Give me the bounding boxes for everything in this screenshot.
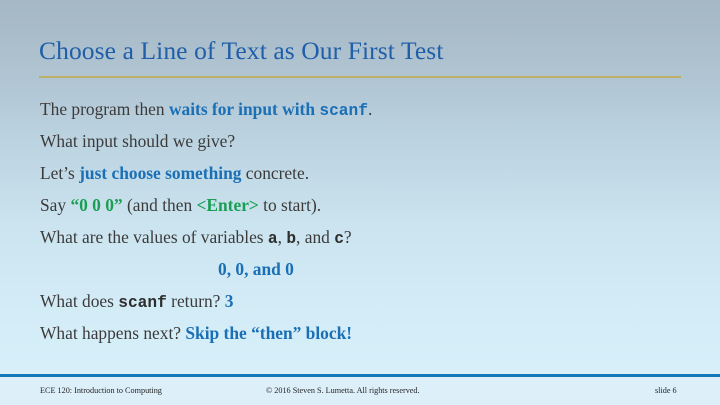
line-say-zeros-segment-0: Say bbox=[40, 195, 70, 215]
slide-footer: ECE 120: Introduction to Computing © 201… bbox=[0, 377, 720, 405]
line-variable-values-segment-0: What are the values of variables bbox=[40, 227, 268, 247]
line-variable-values-segment-3: b bbox=[286, 230, 296, 248]
line-scanf-return-segment-1: scanf bbox=[118, 294, 167, 312]
line-variable-values-segment-1: a bbox=[268, 230, 278, 248]
line-variable-values-segment-6: ? bbox=[344, 227, 352, 247]
footer-course-label: ECE 120: Introduction to Computing bbox=[40, 386, 162, 396]
line-say-zeros: Say “0 0 0” (and then <Enter> to start). bbox=[40, 189, 700, 221]
line-what-next: What happens next? Skip the “then” block… bbox=[40, 317, 700, 349]
line-scanf-wait: The program then waits for input with sc… bbox=[40, 93, 700, 125]
line-scanf-wait-segment-2: scanf bbox=[319, 102, 368, 120]
line-variable-values: What are the values of variables a, b, a… bbox=[40, 221, 700, 253]
line-answer-zeros: 0, 0, and 0 bbox=[40, 253, 700, 285]
line-variable-values-segment-5: c bbox=[334, 230, 344, 248]
slide-canvas: Choose a Line of Text as Our First Test … bbox=[0, 0, 720, 405]
line-choose-something: Let’s just choose something concrete. bbox=[40, 157, 700, 189]
line-choose-something-segment-0: Let’s bbox=[40, 163, 79, 183]
line-choose-something-segment-2: concrete. bbox=[241, 163, 309, 183]
line-say-zeros-segment-1: “0 0 0” bbox=[70, 195, 122, 215]
footer-copyright-label: © 2016 Steven S. Lumetta. All rights res… bbox=[266, 386, 420, 396]
line-what-next-segment-0: What happens next? bbox=[40, 323, 185, 343]
line-scanf-wait-segment-1: waits for input with bbox=[169, 99, 319, 119]
line-scanf-return-segment-3: 3 bbox=[225, 291, 234, 311]
line-say-zeros-segment-2: (and then bbox=[123, 195, 197, 215]
slide-body: The program then waits for input with sc… bbox=[40, 93, 700, 349]
title-underline-rule bbox=[39, 76, 681, 78]
page-title: Choose a Line of Text as Our First Test bbox=[39, 36, 679, 66]
line-answer-zeros-segment-0: 0, 0, and 0 bbox=[218, 259, 294, 279]
line-scanf-return: What does scanf return? 3 bbox=[40, 285, 700, 317]
line-scanf-return-segment-2: return? bbox=[167, 291, 225, 311]
footer-slide-number: slide 6 bbox=[655, 386, 677, 396]
line-what-input-segment-0: What input should we give? bbox=[40, 131, 235, 151]
line-say-zeros-segment-3: <Enter> bbox=[197, 195, 259, 215]
line-what-input: What input should we give? bbox=[40, 125, 700, 157]
line-scanf-wait-segment-3: . bbox=[368, 99, 372, 119]
line-scanf-return-segment-0: What does bbox=[40, 291, 118, 311]
line-say-zeros-segment-4: to start). bbox=[259, 195, 321, 215]
line-scanf-wait-segment-0: The program then bbox=[40, 99, 169, 119]
line-variable-values-segment-4: , and bbox=[296, 227, 334, 247]
line-what-next-segment-1: Skip the “then” block! bbox=[185, 323, 352, 343]
line-choose-something-segment-1: just choose something bbox=[79, 163, 241, 183]
